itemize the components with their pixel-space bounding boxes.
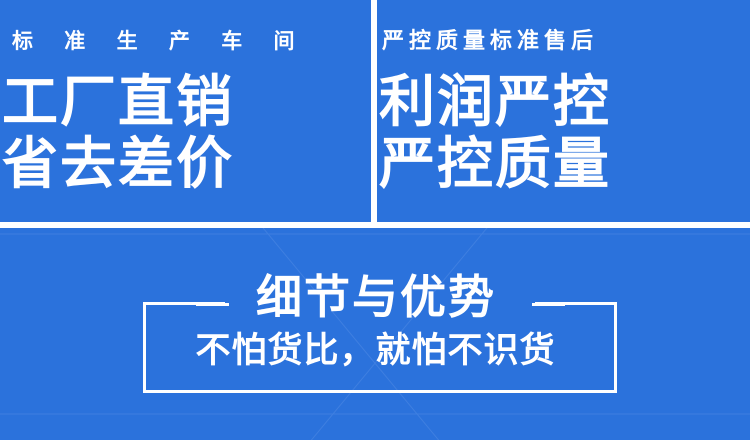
banner-title: 细节与优势 xyxy=(0,274,750,320)
panel-factory-direct: 标 准 生 产 车 间 工厂直销 省去差价 xyxy=(0,0,371,222)
banner-subtitle: 不怕货比，就怕不识货 xyxy=(0,334,750,369)
panel-right-headline-line2: 严控质量 xyxy=(377,137,750,193)
panel-right-headline-line1: 利润严控 xyxy=(377,75,750,131)
panel-quality-control: 严控质量标准售后 利润严控 严控质量 xyxy=(377,0,750,222)
panel-left-eyebrow: 标 准 生 产 车 间 xyxy=(0,31,371,52)
panel-details-advantages: 细节与优势 不怕货比，就怕不识货 xyxy=(0,228,750,440)
promo-banner-image: 标 准 生 产 车 间 工厂直销 省去差价 严控质量标准售后 利润严控 严控质量… xyxy=(0,0,750,440)
panel-right-eyebrow: 严控质量标准售后 xyxy=(377,31,750,53)
panel-left-headline-line2: 省去差价 xyxy=(0,137,371,193)
panel-left-headline-line1: 工厂直销 xyxy=(0,75,371,131)
